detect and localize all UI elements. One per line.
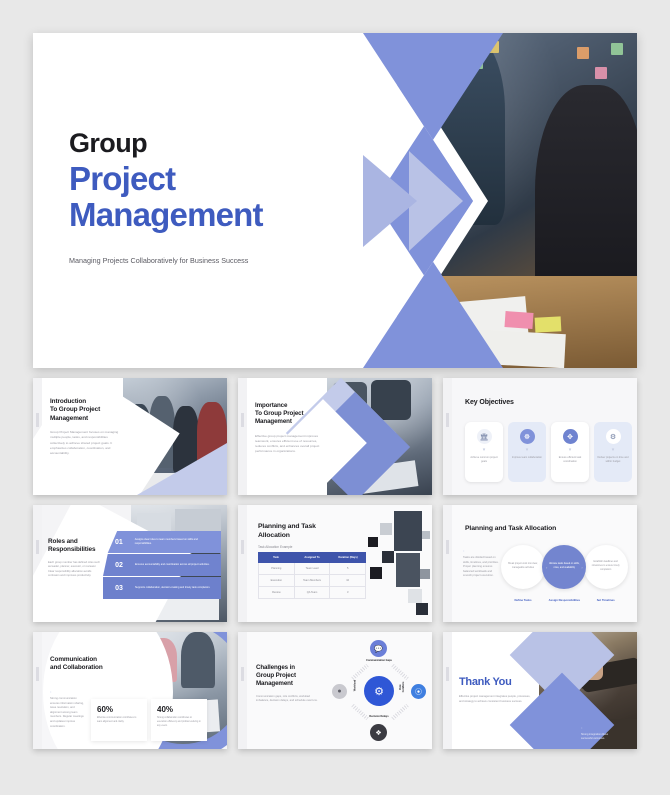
node-label-role-conflicts: Role Conflicts xyxy=(399,679,405,695)
slide-edge-bar xyxy=(443,632,452,749)
presentation-preview: Group Project Management Managing Projec… xyxy=(0,0,670,795)
slide-thumbnail-introduction[interactable]: Introduction To Group Project Management… xyxy=(33,378,227,495)
quote-icon: “ xyxy=(50,690,86,695)
role-text-1: Assigns clear roles to team members base… xyxy=(135,538,221,546)
network-icon: ☸ xyxy=(520,429,535,444)
intro-title-line2: To Group Project xyxy=(50,406,130,414)
stat-value-40: 40% xyxy=(157,705,201,714)
slide-thumbnail-communication[interactable]: Communication and Collaboration “ Strong… xyxy=(33,632,227,749)
slide-thumbnail-thank-you[interactable]: Thank You Effective project management i… xyxy=(443,632,637,749)
process-circles: Break project work into clear, manageabl… xyxy=(501,545,628,589)
stat-text-60: Effective communication contributes to t… xyxy=(97,717,141,725)
objective-label-3: Ensure efficient task coordination xyxy=(554,456,586,464)
col-assigned: Assigned To xyxy=(294,552,330,563)
circle-assign-responsibilities[interactable]: Allocate tasks based on skills, roles, a… xyxy=(542,545,586,589)
communication-title-line2: and Collaboration xyxy=(50,664,134,672)
hero-title-line1: Group xyxy=(69,128,263,159)
chevron-right-icon: › xyxy=(546,565,547,570)
slide-thumbnail-key-objectives[interactable]: Key Objectives 🏛 ▾ Achieve common projec… xyxy=(443,378,637,495)
table-row: Review QA Team 3 xyxy=(258,587,366,599)
gears-icon[interactable]: ⚙ xyxy=(364,676,394,706)
stat-value-60: 60% xyxy=(97,705,141,714)
hero-slide[interactable]: Group Project Management Managing Projec… xyxy=(33,33,637,368)
thank-you-quote: Strong integration drives successful out… xyxy=(581,733,611,742)
thank-you-quote-block: “ Strong integration drives successful o… xyxy=(581,726,611,741)
slide-thumbnail-planning-circles[interactable]: Planning and Task Allocation “ Tasks are… xyxy=(443,505,637,622)
slide-edge-bar xyxy=(443,505,452,622)
share-icon[interactable]: ❖ xyxy=(370,724,387,741)
hero-title-line3: Management xyxy=(69,196,263,234)
roles-title-line2: Responsibilities xyxy=(48,546,106,554)
cell-duration: 5 xyxy=(330,563,365,574)
role-number-2: 02 xyxy=(103,562,135,569)
slide-edge-bar xyxy=(238,632,247,749)
slide-thumbnail-planning-table[interactable]: Planning and Task Allocation Task Alloca… xyxy=(238,505,432,622)
chevron-down-icon: ▾ xyxy=(526,447,529,453)
challenges-hub-diagram: 💬 Communication Gaps ⦿ Role Conflicts ❖ … xyxy=(330,636,428,746)
table-row: Planning Team Lead 5 xyxy=(258,563,366,575)
circle-text-1: Break project work into clear, manageabl… xyxy=(507,563,539,570)
col-task: Task xyxy=(258,552,294,563)
objective-card-4[interactable]: ⚙ ▾ Deliver projects on time and within … xyxy=(594,422,632,482)
quote-icon: “ xyxy=(581,726,582,731)
stat-text-40: Strong collaboration contributes to exec… xyxy=(157,717,201,728)
task-allocation-table: Task Assigned To Duration (Days) Plannin… xyxy=(258,552,366,599)
slide-thumbnail-challenges[interactable]: Challenges in Group Project Management C… xyxy=(238,632,432,749)
col-duration: Duration (Days) xyxy=(330,552,366,563)
role-text-3: Supports collaboration, decision-making … xyxy=(135,586,216,590)
slide-edge-bar xyxy=(238,378,247,495)
mosaic-photo xyxy=(368,511,430,615)
cell-duration: 10 xyxy=(330,575,365,586)
roles-bands: 01 Assigns clear roles to team members b… xyxy=(103,531,221,600)
table-caption: Task Allocation Example xyxy=(258,545,292,549)
role-number-3: 03 xyxy=(103,585,135,592)
circle-caption-3: Set Timelines xyxy=(597,598,615,602)
stat-card-40[interactable]: 40% Strong collaboration contributes to … xyxy=(151,699,207,741)
planning-table-title-line2: Allocation xyxy=(258,532,348,541)
nodes-icon: ✥ xyxy=(563,429,578,444)
chevron-right-icon: › xyxy=(581,565,582,570)
circle-text-3: Establish deadlines and milestones to en… xyxy=(590,561,622,572)
planning-table-title-line1: Planning and Task xyxy=(258,523,348,532)
key-objectives-title: Key Objectives xyxy=(465,399,514,406)
planning-circles-body: Tasks are divided based on skills, timel… xyxy=(463,556,499,579)
hero-text-block: Group Project Management Managing Projec… xyxy=(69,128,263,265)
slide-thumbnail-grid: Introduction To Group Project Management… xyxy=(33,378,637,749)
cell-assigned: Team Members xyxy=(295,575,331,586)
challenges-title-line3: Management xyxy=(256,680,322,688)
role-text-2: Ensures accountability and coordination … xyxy=(135,563,216,567)
importance-title-line3: Management xyxy=(255,418,337,426)
circle-text-2: Allocate tasks based on skills, roles, a… xyxy=(548,563,580,570)
table-row: Execution Team Members 10 xyxy=(258,575,366,587)
drop-icon[interactable]: ⦿ xyxy=(411,684,426,699)
objective-label-2: Improve team collaboration xyxy=(511,456,543,460)
objective-label-4: Deliver projects on time and within budg… xyxy=(597,456,629,464)
role-band-3[interactable]: 03 Supports collaboration, decision-maki… xyxy=(103,577,221,599)
quote-icon: “ xyxy=(463,549,499,554)
circle-caption-1: Define Tasks xyxy=(514,598,531,602)
intro-title-line3: Management xyxy=(50,415,130,423)
chevron-down-icon: ▾ xyxy=(612,447,615,453)
cell-assigned: QA Team xyxy=(295,587,331,598)
communication-body: Strong communication ensures information… xyxy=(50,697,86,729)
thank-you-title: Thank You xyxy=(459,676,545,688)
importance-title-line2: To Group Project xyxy=(255,410,337,418)
node-label-decision-delays: Decision Delays xyxy=(358,715,400,718)
role-band-2[interactable]: 02 Ensures accountability and coordinati… xyxy=(103,554,221,576)
gears-icon: ⚙ xyxy=(606,429,621,444)
node-label-workload: Workload xyxy=(354,678,357,694)
key-objectives-cards: 🏛 ▾ Achieve common project goals ☸ ▾ Imp… xyxy=(465,422,632,482)
circle-define-tasks[interactable]: Break project work into clear, manageabl… xyxy=(501,545,545,589)
circle-caption-2: Assign Responsibilities xyxy=(549,598,581,602)
thank-you-body: Effective project management integrates … xyxy=(459,695,535,704)
slide-thumbnail-importance[interactable]: Importance To Group Project Management E… xyxy=(238,378,432,495)
slide-edge-bar xyxy=(238,505,247,622)
slide-edge-bar xyxy=(33,632,42,749)
bank-icon: 🏛 xyxy=(477,429,492,444)
importance-title-line1: Importance xyxy=(255,402,337,410)
planning-circles-title: Planning and Task Allocation xyxy=(465,525,556,532)
chevron-down-icon: ▾ xyxy=(483,447,486,453)
chevron-down-icon: ▾ xyxy=(569,447,572,453)
speech-icon[interactable]: 💬 xyxy=(370,640,387,657)
objective-label-1: Achieve common project goals xyxy=(468,456,500,464)
circle-set-timelines[interactable]: Establish deadlines and milestones to en… xyxy=(584,545,628,589)
role-number-1: 01 xyxy=(103,539,135,546)
slide-thumbnail-roles[interactable]: Roles and Responsibilities Each group me… xyxy=(33,505,227,622)
challenges-body: Communication gaps, role conflicts, work… xyxy=(256,695,322,704)
roles-body: Each group member has defined roles such… xyxy=(48,561,100,579)
table-header-row: Task Assigned To Duration (Days) xyxy=(258,552,366,563)
challenges-title-line1: Challenges in xyxy=(256,664,322,672)
stat-cards: 60% Effective communication contributes … xyxy=(91,699,207,741)
cell-assigned: Team Lead xyxy=(295,563,331,574)
importance-body: Effective group project management impro… xyxy=(255,434,321,454)
cell-duration: 3 xyxy=(330,587,365,598)
challenges-title-line2: Group Project xyxy=(256,672,322,680)
person-icon[interactable]: ● xyxy=(332,684,347,699)
slide-edge-bar xyxy=(443,378,452,495)
cell-task: Review xyxy=(259,587,295,598)
stat-card-60[interactable]: 60% Effective communication contributes … xyxy=(91,699,147,741)
hero-title-line2: Project xyxy=(69,160,263,198)
intro-title-line1: Introduction xyxy=(50,398,130,406)
objective-card-2[interactable]: ☸ ▾ Improve team collaboration xyxy=(508,422,546,482)
role-band-1[interactable]: 01 Assigns clear roles to team members b… xyxy=(103,531,221,553)
cell-task: Planning xyxy=(259,563,295,574)
hero-subtitle: Managing Projects Collaboratively for Bu… xyxy=(69,256,263,265)
objective-card-1[interactable]: 🏛 ▾ Achieve common project goals xyxy=(465,422,503,482)
objective-card-3[interactable]: ✥ ▾ Ensure efficient task coordination xyxy=(551,422,589,482)
cell-task: Execution xyxy=(259,575,295,586)
intro-body: Group Project Management focuses on mana… xyxy=(50,430,120,455)
communication-title-line1: Communication xyxy=(50,656,134,664)
roles-title-line1: Roles and xyxy=(48,538,106,546)
node-label-communication-gaps: Communication Gaps xyxy=(358,659,400,662)
